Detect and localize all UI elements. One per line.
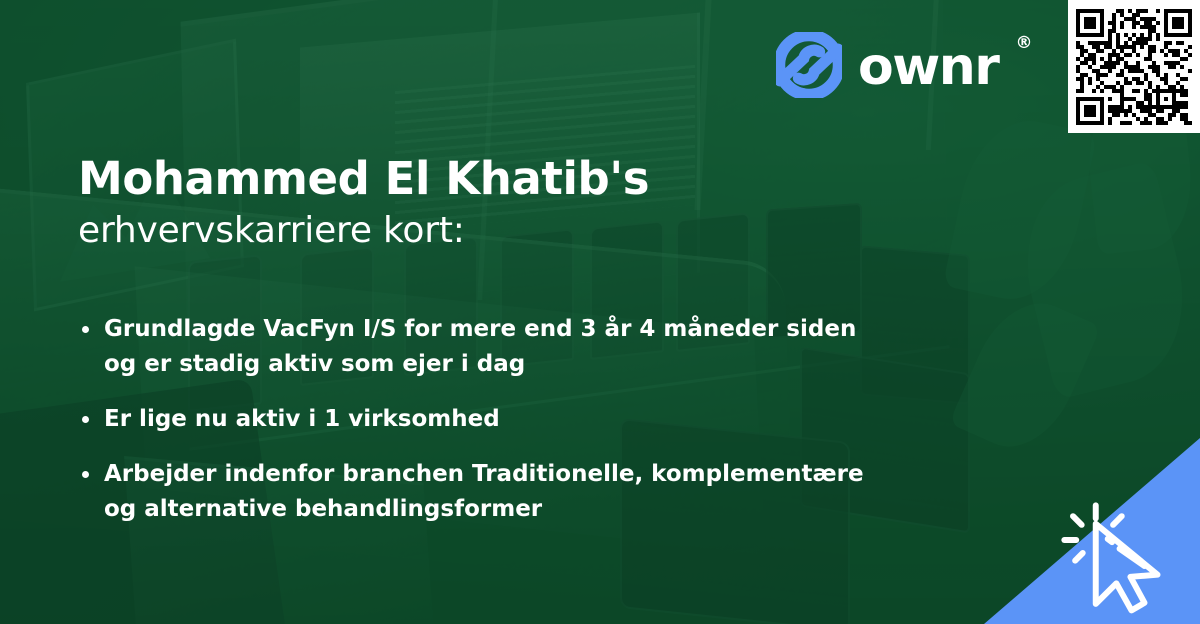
bullet-dot-icon [82, 326, 89, 333]
career-facts-list: Grundlagde VacFyn I/S for mere end 3 år … [82, 312, 872, 527]
list-item: Er lige nu aktiv i 1 virksomhed [82, 402, 872, 437]
click-cursor-icon [1060, 488, 1190, 618]
ownr-wordmark: ownr [858, 41, 998, 93]
qr-code-panel[interactable] [1068, 0, 1200, 133]
headline: Mohammed El Khatib's erhvervskarriere ko… [78, 152, 958, 254]
list-item-text: Er lige nu aktiv i 1 virksomhed [104, 406, 500, 432]
page-title: Mohammed El Khatib's [78, 152, 958, 205]
career-summary-card: ownr ® Mohammed El Khatib's erhvervskarr… [0, 0, 1200, 624]
ownr-logo[interactable]: ownr ® [776, 32, 1031, 98]
bullet-dot-icon [82, 416, 89, 423]
registered-mark: ® [1015, 35, 1032, 52]
bullet-dot-icon [82, 471, 89, 478]
list-item: Grundlagde VacFyn I/S for mere end 3 år … [82, 312, 872, 382]
ownr-circle-logo-icon [776, 32, 842, 98]
qr-code[interactable] [1076, 9, 1192, 125]
list-item-text: Grundlagde VacFyn I/S for mere end 3 år … [104, 316, 856, 377]
list-item-text: Arbejder indenfor branchen Traditionelle… [104, 461, 864, 522]
page-subtitle: erhvervskarriere kort: [78, 209, 958, 254]
corner-decoration [984, 438, 1200, 624]
list-item: Arbejder indenfor branchen Traditionelle… [82, 457, 872, 527]
